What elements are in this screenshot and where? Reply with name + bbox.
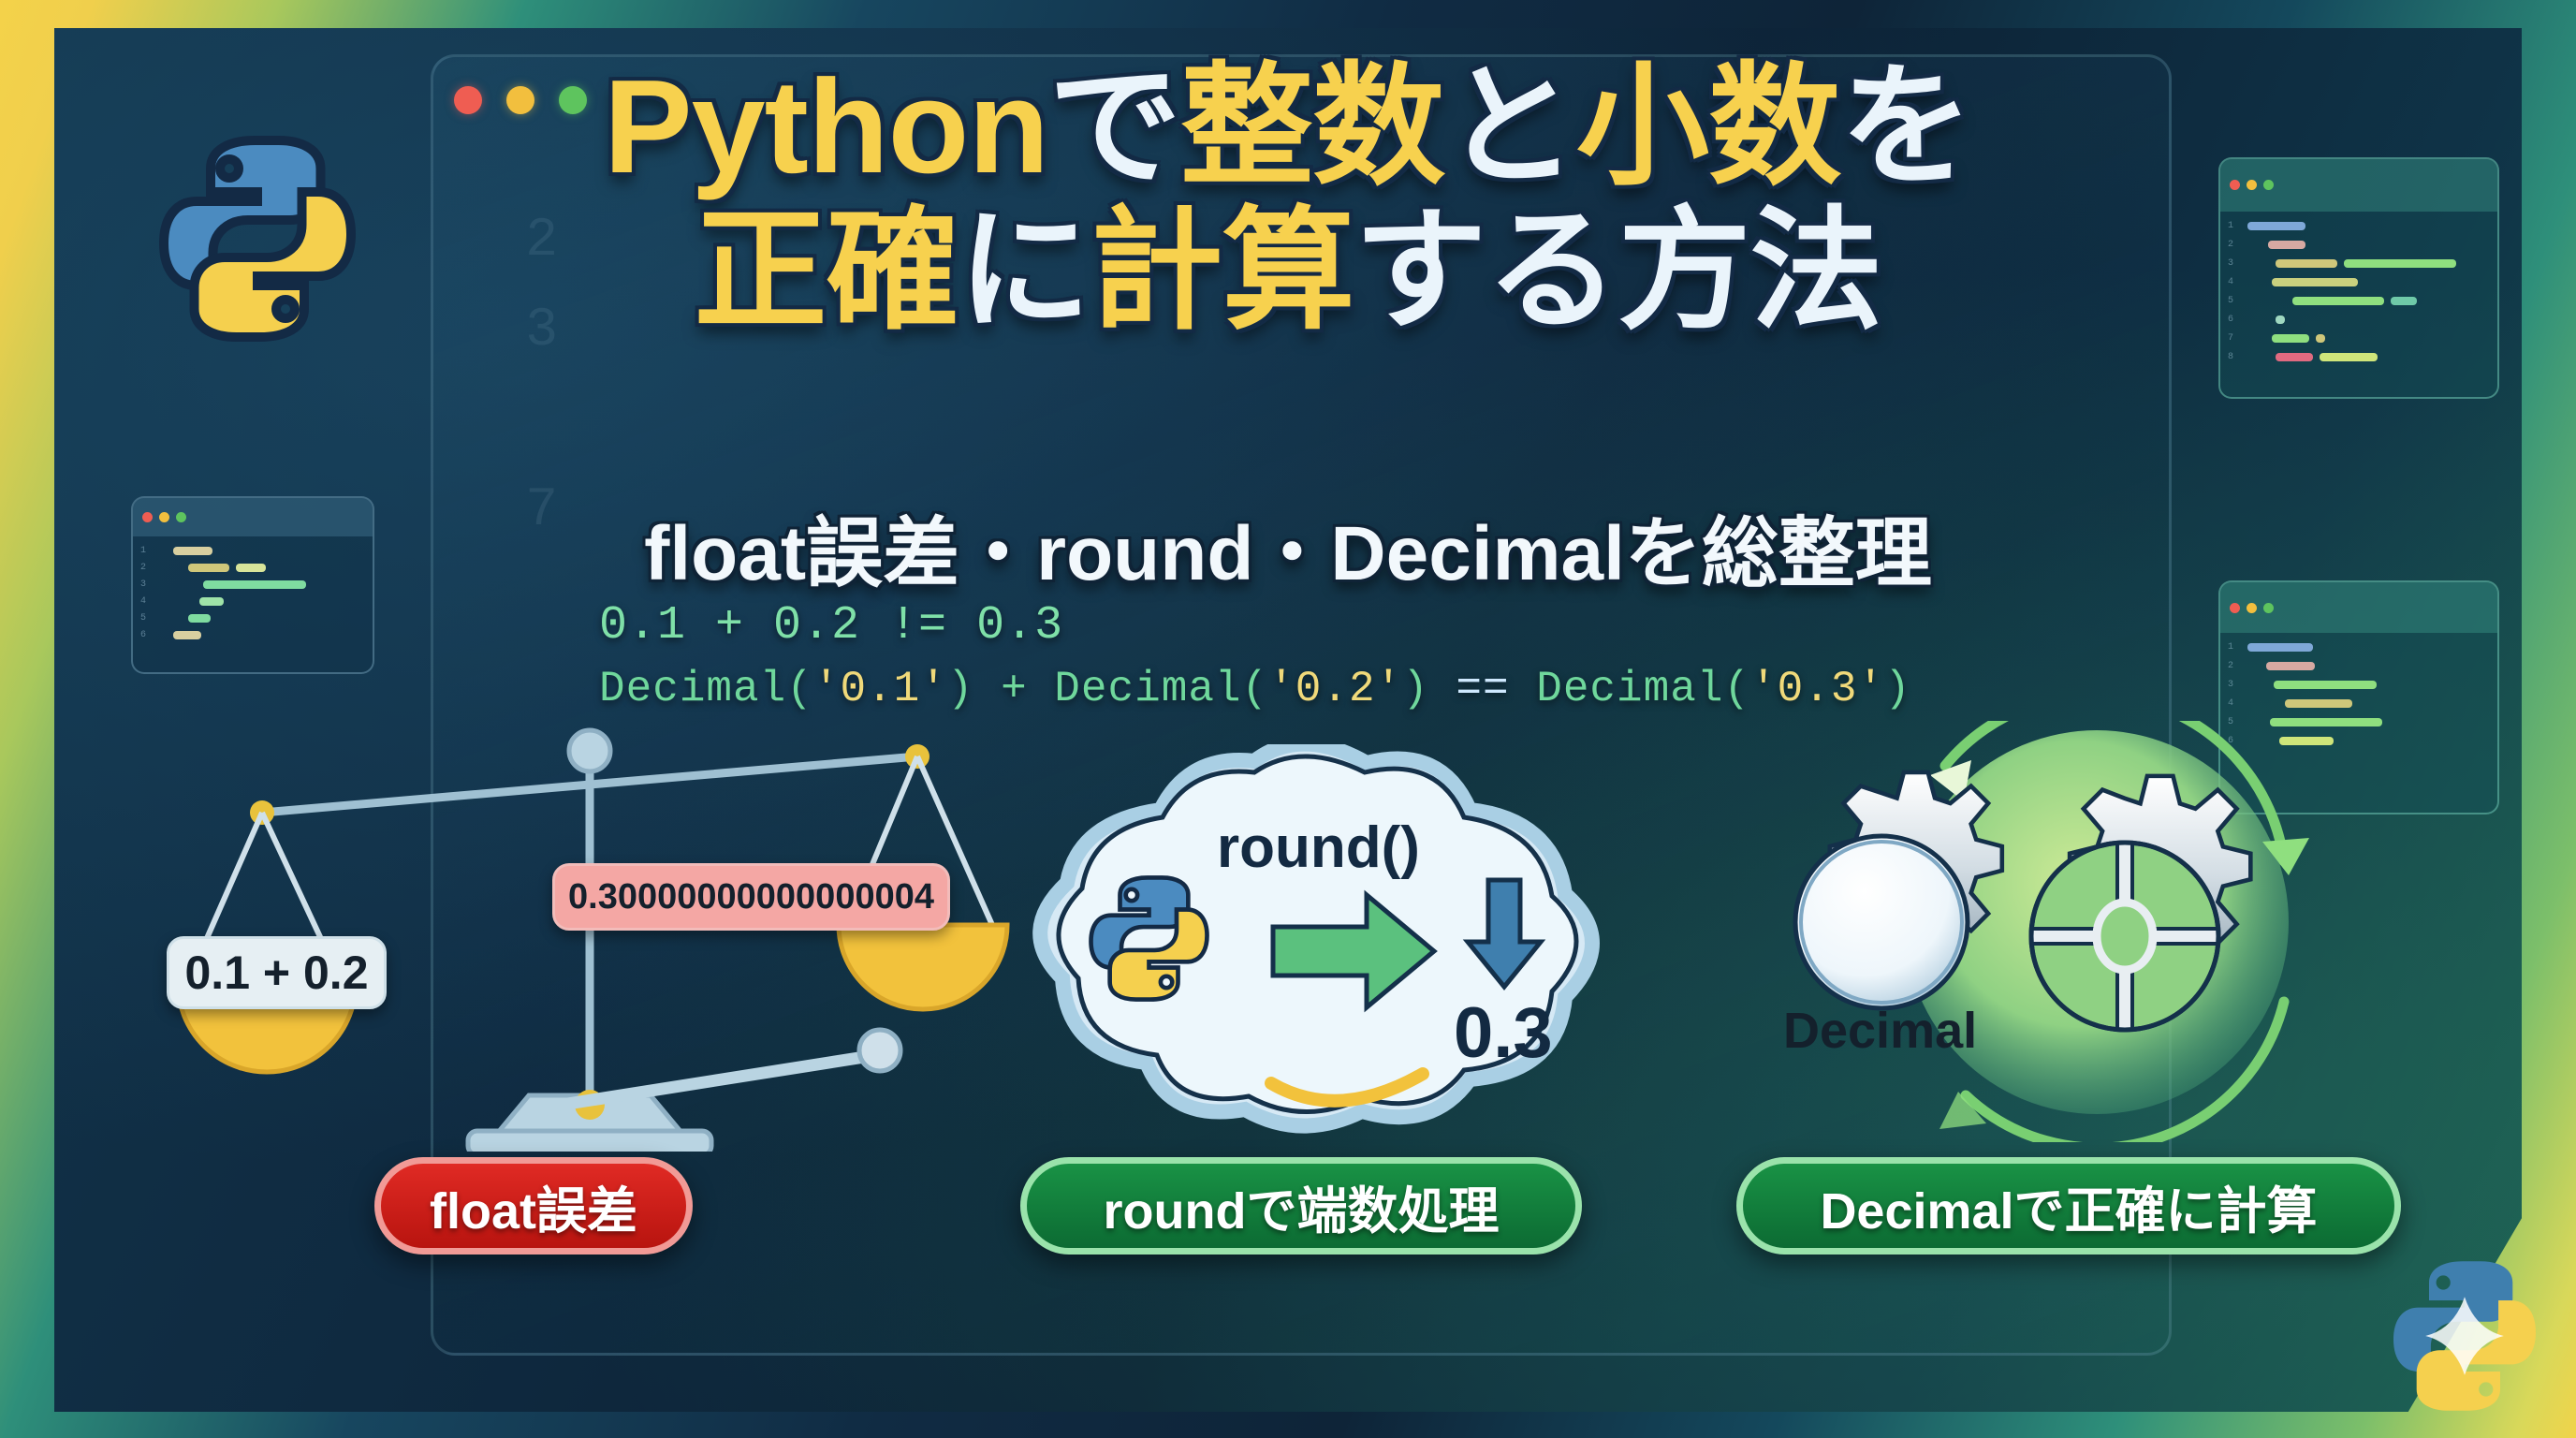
round-result-value: 0.3 — [1454, 992, 1553, 1074]
code2-op: == — [1456, 665, 1509, 713]
minimize-dot-icon — [506, 86, 534, 114]
code2-e: ) — [1884, 665, 1911, 713]
top-right-code-window: 1 2 3 4 5 6 7 8 — [2218, 157, 2499, 399]
subtitle: float誤差・round・Decimalを総整理 — [0, 491, 2576, 602]
code2-d: Decimal( — [1510, 665, 1750, 713]
corner-python-logo — [2376, 1247, 2554, 1425]
badge-decimal[interactable]: Decimalで正確に計算 — [1736, 1157, 2401, 1255]
badge-round[interactable]: roundで端数処理 — [1020, 1157, 1582, 1255]
close-dot-icon — [454, 86, 482, 114]
scale-left-value-tag: 0.1 + 0.2 — [167, 936, 387, 1009]
scale-right-value-tag: 0.30000000000000004 — [552, 863, 950, 931]
code2-c: ) — [1402, 665, 1456, 713]
code-line-1: 0.1 + 0.2 != 0.3 — [599, 599, 1063, 653]
thumbnail-canvas: 2 3 7 1 2 3 4 5 6 7 8 1 2 3 4 5 6 — [0, 0, 2576, 1438]
round-cloud-title: round() — [1217, 814, 1420, 881]
window-traffic-lights — [454, 86, 587, 114]
badge-float-error[interactable]: float誤差 — [374, 1157, 693, 1255]
code2-q3: '0.3' — [1750, 665, 1884, 713]
decimal-gear-label: Decimal — [1783, 1002, 1977, 1060]
maximize-dot-icon — [559, 86, 587, 114]
title-python-logo — [140, 122, 374, 356]
code2-q2: '0.2' — [1268, 665, 1402, 713]
